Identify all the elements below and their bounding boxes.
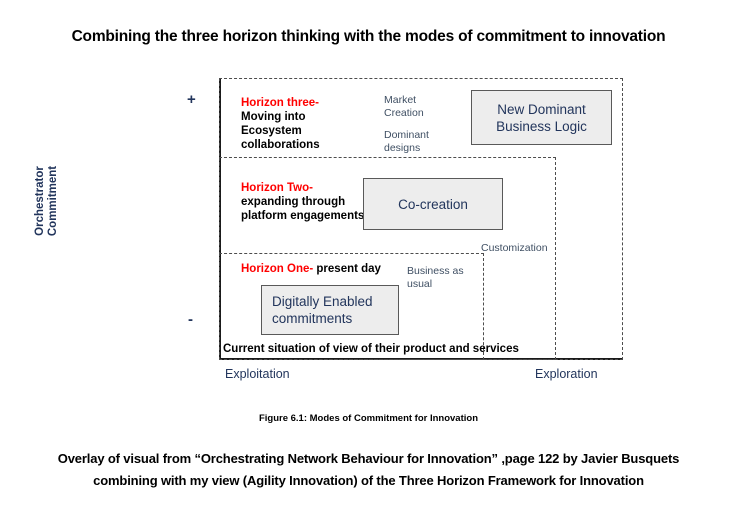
horizon-two-prefix: Horizon Two- (241, 182, 313, 194)
horizon-one-prefix: Horizon One- (241, 263, 313, 275)
page-title: Combining the three horizon thinking wit… (0, 28, 737, 46)
horizon-two-body: expanding through platform engagements (241, 196, 364, 222)
horizon-two-label: Horizon Two- expanding through platform … (241, 181, 371, 223)
figure-caption: Figure 6.1: Modes of Commitment for Inno… (0, 413, 737, 424)
annotation-customization: Customization (481, 242, 571, 255)
y-axis-label: Orchestrator Commitment (34, 141, 60, 261)
horizon-three-prefix: Horizon three- (241, 97, 319, 109)
y-axis-minus-marker: - (188, 312, 193, 327)
source-footnote-line2: combining with my view (Agility Innovati… (14, 470, 723, 492)
source-footnote-line1: Overlay of visual from “Orchestrating Ne… (14, 448, 723, 470)
source-footnote: Overlay of visual from “Orchestrating Ne… (14, 448, 723, 492)
box-new-dominant-business-logic: New Dominant Business Logic (471, 90, 612, 145)
horizon-one-body: present day (313, 263, 381, 275)
y-axis-label-line1: Orchestrator (34, 141, 47, 261)
y-axis-label-line2: Commitment (47, 141, 60, 261)
x-axis-label-exploration: Exploration (535, 367, 598, 381)
x-axis-label-exploitation: Exploitation (225, 367, 290, 381)
annotation-business-as-usual: Business as usual (407, 265, 467, 290)
y-axis-plus-marker: + (187, 92, 196, 107)
horizon-three-label: Horizon three- Moving into Ecosystem col… (241, 96, 361, 152)
annotation-market-creation: Market Creation (384, 94, 454, 119)
box-digitally-enabled-commitments: Digitally Enabled commitments (261, 285, 399, 335)
horizon-three-body: Moving into Ecosystem collaborations (241, 111, 320, 151)
box-co-creation: Co-creation (363, 178, 503, 230)
horizon-commitment-diagram: Orchestrator Commitment + - Horizon thre… (0, 70, 737, 370)
annotation-current-situation: Current situation of view of their produ… (223, 342, 519, 356)
annotation-dominant-designs: Dominant designs (384, 129, 454, 154)
